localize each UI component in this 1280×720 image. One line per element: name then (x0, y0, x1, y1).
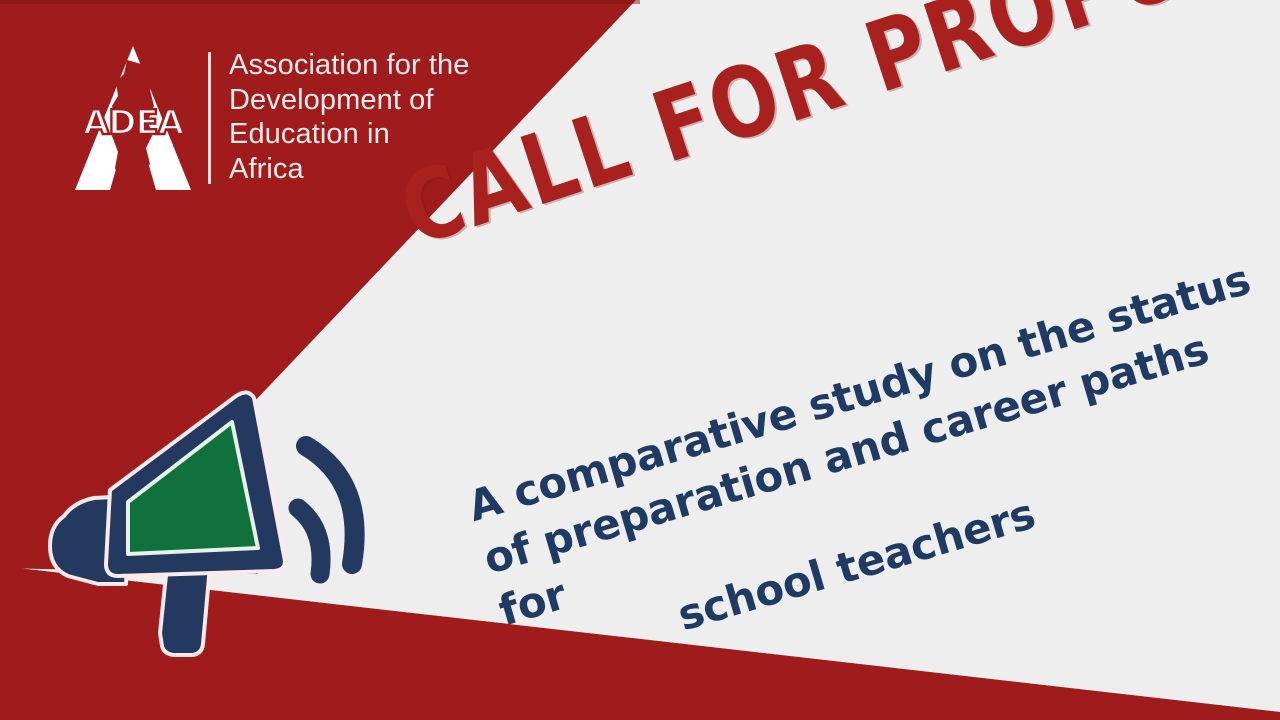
megaphone-with-sound-waves (40, 378, 410, 670)
sound-wave-inner (298, 508, 321, 574)
background-top-strip (0, 0, 640, 4)
logo-divider (208, 52, 211, 184)
adea-africa-triangle-logo: ADEA (72, 44, 194, 192)
svg-text:ADEA: ADEA (83, 103, 185, 143)
poster-canvas: ADEA Association for the Development of … (0, 0, 1280, 720)
adea-acronym: ADEA (83, 103, 185, 143)
